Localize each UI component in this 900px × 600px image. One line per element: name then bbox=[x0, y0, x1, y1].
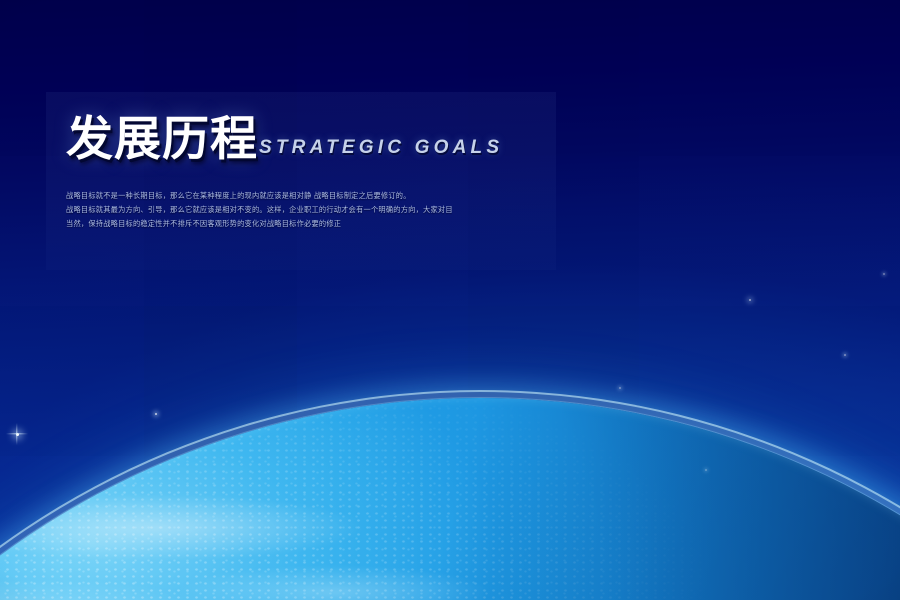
banner-heading: 发展历程 STRATEGIC GOALS bbox=[66, 116, 503, 163]
page-subtitle: STRATEGIC GOALS bbox=[259, 137, 503, 163]
description-line: 战略目标就其最为方向、引导，那么它就应该是相对不变的。这样，企业职工的行动才会有… bbox=[66, 203, 586, 217]
description-line: 战略目标就不是一种长期目标，那么它在某种程度上的现内就应该是相对静 战略目标制定… bbox=[66, 189, 586, 203]
description-line: 当然，保持战略目标的稳定性并不排斥不因客观形势的变化对战略目标作必要的修正 bbox=[66, 217, 586, 231]
banner-canvas: 发展历程 STRATEGIC GOALS 战略目标就不是一种长期目标，那么它在某… bbox=[0, 0, 900, 600]
space-background bbox=[0, 0, 900, 600]
banner-description: 战略目标就不是一种长期目标，那么它在某种程度上的现内就应该是相对静 战略目标制定… bbox=[66, 189, 586, 231]
page-title: 发展历程 bbox=[66, 116, 258, 163]
